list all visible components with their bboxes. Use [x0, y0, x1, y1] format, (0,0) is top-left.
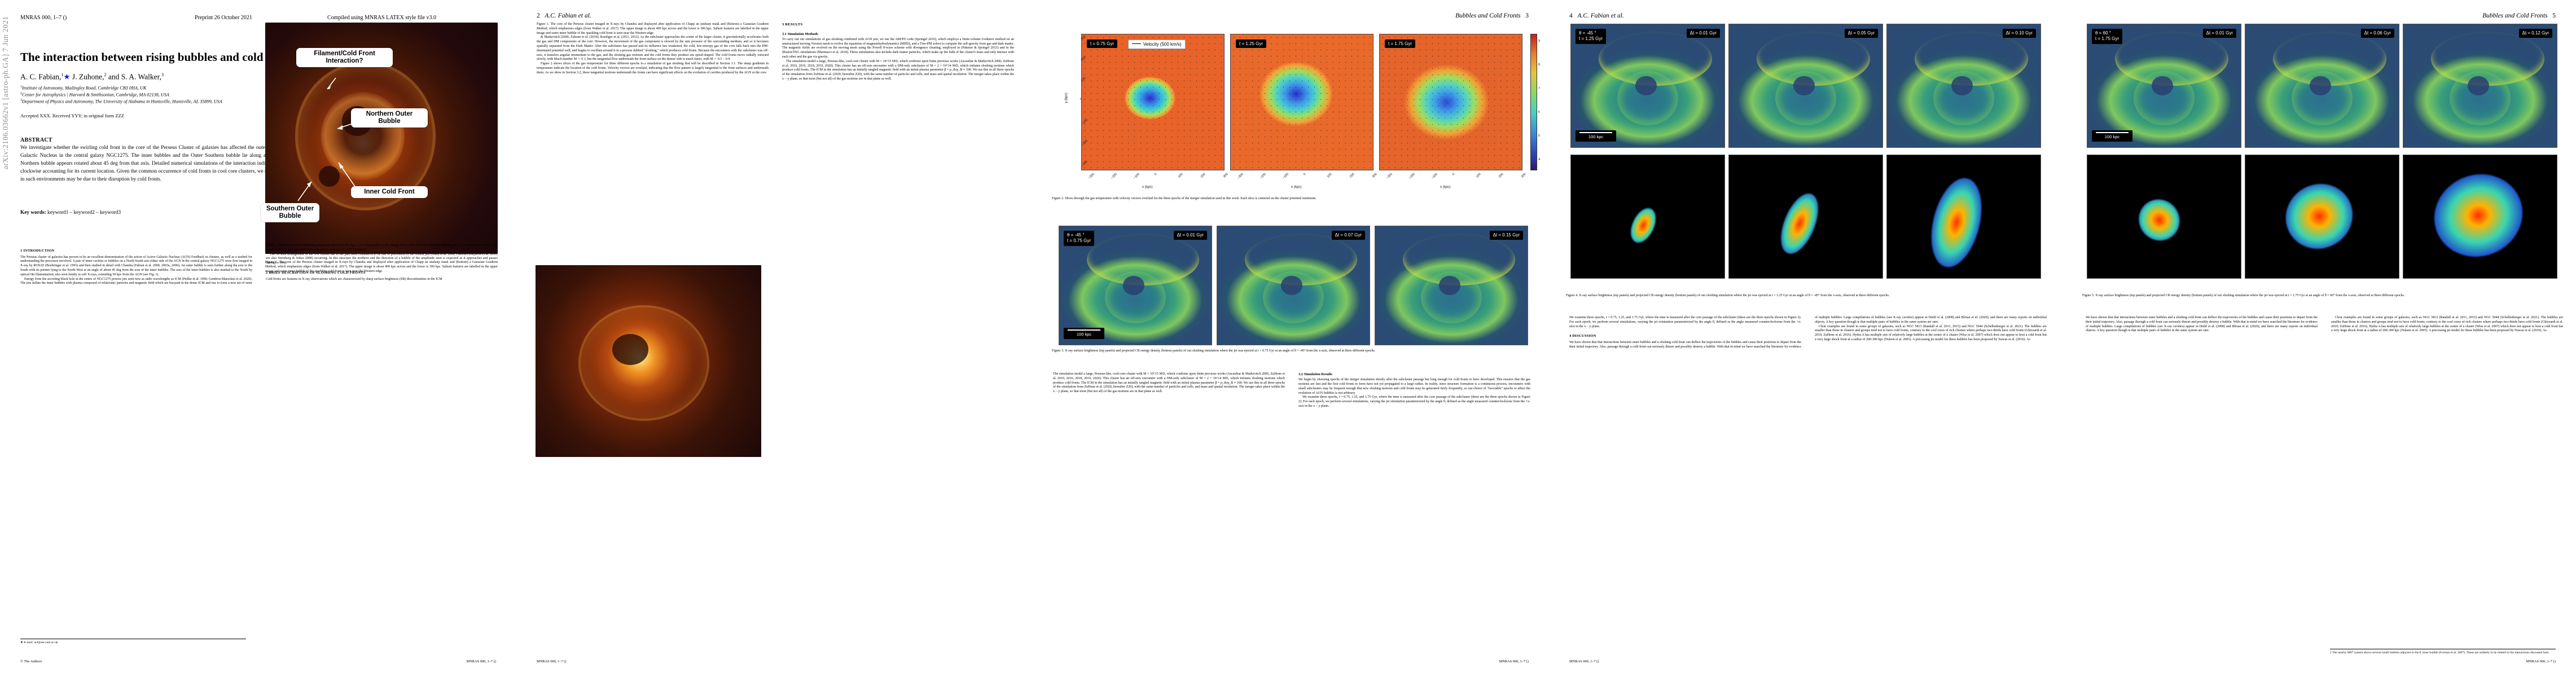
- image-noise: [1375, 226, 1528, 345]
- page-2-runhead: 2 A.C. Fabian et al.: [516, 12, 1033, 23]
- xtick: 300: [1521, 173, 1527, 179]
- page-2-number: 2 A.C. Fabian et al.: [537, 12, 591, 19]
- figure-5-caption: Figure 5. X-ray surface brightness (top …: [2082, 293, 2556, 298]
- keywords-label: Key words:: [20, 210, 46, 216]
- image-noise: [2245, 24, 2399, 147]
- xray-sb-map: [1217, 226, 1370, 345]
- scale-bar-line: [2096, 132, 2129, 133]
- cbar-tick: 5: [1538, 134, 1540, 138]
- velocity-vectors: [1380, 34, 1522, 170]
- fig4-sb-panel-3: Δt = 0.10 Gyr: [1886, 24, 2041, 148]
- xlabel-1: x (kpc): [1142, 185, 1153, 189]
- sec2-continued: & Markevitch (2006; Zuhone et al. (2010)…: [537, 36, 769, 62]
- scale-bar: 100 kpc: [2092, 130, 2132, 142]
- panel-dt-label: Δt = 0.01 Gyr: [2203, 29, 2236, 38]
- xtick: 300: [1372, 173, 1378, 179]
- sb-panel-1: θ = -45 ° t = 0.75 Gyr Δt = 0.01 Gyr 100…: [1059, 226, 1212, 345]
- page-4: 4 A.C. Fabian et al. θ = -45 ° t = 1.25 …: [1549, 0, 2065, 677]
- cr-jet: [1923, 173, 1989, 272]
- xray-sb-map: [1375, 226, 1528, 345]
- footnote-email: ★ E-mail: acf@ast.cam.ac.uk: [20, 639, 246, 644]
- sec31-paragraph-2: The simulation model a large, Perseus-li…: [782, 60, 1014, 82]
- page-4-footer: MNRAS 000, 1–7 (): [1569, 660, 1599, 663]
- velocity-legend: Velocity (500 km/s): [1128, 39, 1186, 49]
- figure-1: Filament/Cold Front Interaction? Norther…: [265, 23, 498, 254]
- page-3-title: Bubbles and Cold Fronts 3: [1455, 12, 1529, 19]
- paper-spread: MNRAS 000, 1–7 () Preprint 26 October 20…: [0, 0, 2576, 677]
- panel-dt-label: Δt = 0.10 Gyr: [2003, 29, 2036, 38]
- xtick: −100: [1133, 173, 1140, 180]
- page-4-number: 4 A.C. Fabian et al.: [1569, 12, 1624, 19]
- figure-4: θ = -45 ° t = 1.25 Gyr Δt = 0.01 Gyr 100…: [1566, 24, 2046, 289]
- section-heading-cold-fronts: 2 BRIEF DESCRIPTION OF SLOSHING COLD FRO…: [266, 271, 498, 276]
- intro-paragraph-3: The off-axis arrangement of the NW bubbl…: [266, 253, 498, 266]
- page-2: 2 A.C. Fabian et al. Figure 1. The core …: [516, 0, 1033, 677]
- fig5-sb-panel-2: Δt = 0.06 Gyr: [2245, 24, 2399, 148]
- panel-dt-label: Δt = 0.05 Gyr: [1845, 29, 1878, 38]
- xtick: 100: [1178, 173, 1184, 179]
- figure-4-caption: Figure 4. X-ray surface brightness (top …: [1566, 293, 2046, 298]
- image-noise: [1729, 24, 1882, 147]
- panel-time-label: t = 1.75 Gyr: [1385, 39, 1415, 48]
- fig4-sb-panel-2: Δt = 0.05 Gyr: [1728, 24, 1883, 148]
- page-4-runhead: 4 A.C. Fabian et al.: [1549, 12, 2065, 23]
- xlabel-3: x (kpc): [1440, 185, 1451, 189]
- cbar-tick: 8: [1538, 63, 1540, 67]
- scale-bar: 100 kpc: [1064, 328, 1104, 339]
- callout-northern-outer-bubble: Northern Outer Bubble: [351, 108, 428, 128]
- page-5-runhead: Bubbles and Cold Fronts 5: [2065, 12, 2576, 23]
- fig5-cr-panel-1: [2087, 155, 2241, 279]
- page-3-footer: MNRAS 000, 1–7 (): [1499, 660, 1529, 663]
- cbar-tick: 7: [1538, 87, 1540, 90]
- fig5-cr-panel-2: [2245, 155, 2399, 279]
- page-1-body: 1 INTRODUCTION The Perseus cluster of ga…: [20, 244, 498, 650]
- compiled-line: Compiled using MNRAS LATEX style file v3…: [327, 15, 436, 21]
- cold-front-ring: [581, 307, 707, 419]
- cr-jet: [2131, 192, 2188, 249]
- page5-paragraph-2: Clear examples are found in some groups …: [2331, 316, 2563, 333]
- preprint-line: Preprint 26 October 2021: [195, 15, 252, 21]
- cr-jet: [2422, 161, 2535, 270]
- fig5-cr-panel-3: [2403, 155, 2557, 279]
- xtick: −300: [1386, 173, 1393, 180]
- page-5-body: We have shown that that interactions bet…: [2086, 316, 2563, 609]
- cbar-tick: 4: [1538, 158, 1540, 161]
- sec2-paragraph-1: Cold fronts are features in X-ray observ…: [266, 278, 498, 282]
- panel-time-label: t = 0.75 Gyr: [1087, 39, 1117, 48]
- page-3-body: The simulation model a large, Perseus-li…: [1053, 372, 1530, 638]
- scale-bar-line: [1579, 132, 1612, 133]
- xtick: −200: [1408, 173, 1416, 180]
- sec2-paragraph-3: Figure 2 shows slices of the gas tempera…: [537, 62, 769, 75]
- perseus-unsharp-image: [536, 265, 761, 457]
- image-noise: [1887, 24, 2040, 147]
- image-noise: [1217, 226, 1370, 345]
- panel-theta-time-label: θ = -45 ° t = 0.75 Gyr: [1064, 231, 1094, 246]
- xray-sb-map: [1729, 24, 1882, 147]
- xtick: −100: [1282, 173, 1289, 180]
- journal-line: MNRAS 000, 1–7 (): [20, 15, 67, 21]
- temperature-panel-3: t = 1.75 Gyr: [1379, 34, 1522, 170]
- sec31-paragraph-1: To carry out our simulations of gas slos…: [782, 38, 1014, 60]
- panel-dt-label: Δt = 0.07 Gyr: [1332, 231, 1365, 240]
- cbar-tick: 6: [1538, 111, 1540, 114]
- panel-theta-time-label: θ = -45 ° t = 1.25 Gyr: [1576, 29, 1606, 44]
- xtick: 200: [1349, 173, 1355, 179]
- page-2-footer: MNRAS 000, 1–7 (): [537, 660, 567, 663]
- xray-sb-map: [1887, 24, 2040, 147]
- callout-filament-cold-front: Filament/Cold Front Interaction?: [296, 48, 393, 67]
- page-5-title: Bubbles and Cold Fronts 5: [2482, 12, 2556, 19]
- cr-jet: [2274, 172, 2364, 261]
- page-4-body: We examine three epochs, t = 0.75, 1.25,…: [1569, 316, 2047, 638]
- figure-2: y (kpc) t = 0.75 Gyr Velocity (500 km/s)…: [1052, 24, 1529, 193]
- panel-time-label: t = 1.25 Gyr: [1236, 39, 1266, 48]
- cbar-tick: 9: [1538, 39, 1540, 43]
- cr-jet: [1774, 188, 1826, 259]
- figure-3-caption: Figure 3. X-ray surface brightness (top …: [1052, 349, 1529, 353]
- figure-2-caption: Figure 2. Slices through the gas tempera…: [1052, 196, 1529, 201]
- page-1-footer: MNRAS 000, 1–7 (): [466, 660, 496, 663]
- fig1-continued-text: Figure 1. The core of the Perseus cluste…: [537, 23, 769, 36]
- callout-southern-outer-bubble: Southern Outer Bubble: [261, 203, 319, 222]
- xtick: −100: [1431, 173, 1438, 180]
- panel-dt-label: Δt = 0.01 Gyr: [1174, 231, 1207, 240]
- page-1: MNRAS 000, 1–7 () Preprint 26 October 20…: [0, 0, 516, 677]
- figure-2-ylabel: y (kpc): [1064, 93, 1068, 103]
- footnote-p5: 1 The nearby M87 system shows several sm…: [2330, 649, 2556, 654]
- velocity-vectors: [1082, 34, 1224, 170]
- page-5-footer: MNRAS 000, 1–7 (): [2526, 660, 2556, 663]
- scale-bar-line: [1068, 329, 1100, 331]
- fig4-cr-panel-2: [1728, 155, 1883, 279]
- sec32-paragraph-2: We examine three epochs, t = 0.75, 1.25,…: [1298, 395, 1530, 408]
- panel-dt-label: Δt = 0.15 Gyr: [1490, 231, 1523, 240]
- page-3: Bubbles and Cold Fronts 3 y (kpc) t = 0.…: [1033, 0, 1549, 677]
- xtick: −300: [1088, 173, 1095, 180]
- page4-paragraph-1: We examine three epochs, t = 0.75, 1.25,…: [1569, 316, 1801, 329]
- keywords-values: keyword1 – keyword2 – keyword3: [47, 210, 121, 216]
- xray-sb-map: [2245, 24, 2399, 147]
- accepted-line: Accepted XXX. Received YYY; in original …: [20, 113, 124, 118]
- xtick: −200: [1260, 173, 1267, 180]
- page5-paragraph-1: We have shown that that interactions bet…: [2086, 316, 2318, 333]
- panel-dt-label: Δt = 0.12 Gyr: [2519, 29, 2552, 38]
- xtick: 300: [1223, 173, 1229, 179]
- panel-theta-time-label: θ = 60 ° t = 1.75 Gyr: [2092, 29, 2122, 44]
- abstract-heading: ABSTRACT: [20, 137, 52, 143]
- xtick: 100: [1327, 173, 1333, 179]
- sb-panel-2: Δt = 0.07 Gyr: [1217, 226, 1370, 345]
- xtick: 0: [1303, 173, 1306, 176]
- sec3-methods-text: The simulation model a large, Perseus-li…: [1053, 372, 1285, 394]
- temperature-panel-2: t = 1.25 Gyr: [1230, 34, 1373, 170]
- sec32-paragraph-1: We begin by choosing epochs of the merge…: [1298, 378, 1530, 395]
- scale-bar: 100 kpc: [1576, 130, 1616, 142]
- page-3-runhead: Bubbles and Cold Fronts 3: [1033, 12, 1549, 23]
- fig4-sb-panel-1: θ = -45 ° t = 1.25 Gyr Δt = 0.01 Gyr 100…: [1570, 24, 1725, 148]
- xtick: 200: [1498, 173, 1504, 179]
- fig5-sb-panel-3: Δt = 0.12 Gyr: [2403, 24, 2557, 148]
- panel-dt-label: Δt = 0.01 Gyr: [1687, 29, 1720, 38]
- inner-cavity: [612, 334, 648, 364]
- velocity-vectors: [1231, 34, 1373, 170]
- image-noise: [2403, 24, 2557, 147]
- cr-jet: [1626, 204, 1661, 247]
- figure-3: θ = -45 ° t = 0.75 Gyr Δt = 0.01 Gyr 100…: [1052, 226, 1529, 367]
- xtick: 0: [1452, 173, 1455, 176]
- section-heading-results: 3 RESULTS: [782, 23, 1014, 28]
- section-heading-discussion: 4 DISCUSSION: [1569, 334, 1801, 339]
- xtick: 100: [1476, 173, 1482, 179]
- sec4-paragraph-2: Clear examples are found in some groups …: [1815, 325, 2047, 342]
- xray-sb-map: [2403, 24, 2557, 147]
- callout-inner-cold-front: Inner Cold Front: [351, 186, 428, 198]
- xlabel-2: x (kpc): [1291, 185, 1302, 189]
- sb-panel-3: Δt = 0.15 Gyr: [1375, 226, 1528, 345]
- page-5: Bubbles and Cold Fronts 5 θ = 60 ° t = 1…: [2065, 0, 2576, 677]
- subsection-simulation-results: 3.2 Simulation Results: [1298, 372, 1530, 377]
- copyright-footer: © The Authors: [20, 660, 42, 663]
- xtick: 200: [1200, 173, 1206, 179]
- temperature-panel-1: t = 0.75 Gyr Velocity (500 km/s): [1081, 34, 1225, 170]
- colorbar: [1530, 34, 1537, 170]
- section-heading-introduction: 1 INTRODUCTION: [20, 249, 252, 254]
- fig4-cr-panel-3: [1886, 155, 2041, 279]
- fig5-sb-panel-1: θ = 60 ° t = 1.75 Gyr Δt = 0.01 Gyr 100 …: [2087, 24, 2241, 148]
- figure-5: θ = 60 ° t = 1.75 Gyr Δt = 0.01 Gyr 100 …: [2082, 24, 2556, 289]
- panel-dt-label: Δt = 0.06 Gyr: [2361, 29, 2394, 38]
- intro-paragraph-1: The Perseus cluster of galaxies has prov…: [20, 256, 252, 278]
- xtick: −300: [1237, 173, 1244, 180]
- fig4-cr-panel-1: [1570, 155, 1725, 279]
- xtick: −200: [1111, 173, 1118, 180]
- arxiv-stamp: arXiv:2106.03662v1 [astro-ph.GA] 7 Jun 2…: [1, 0, 10, 169]
- subsection-simulation-methods: 3.1 Simulation Methods: [782, 32, 1014, 37]
- xtick: 0: [1154, 173, 1157, 176]
